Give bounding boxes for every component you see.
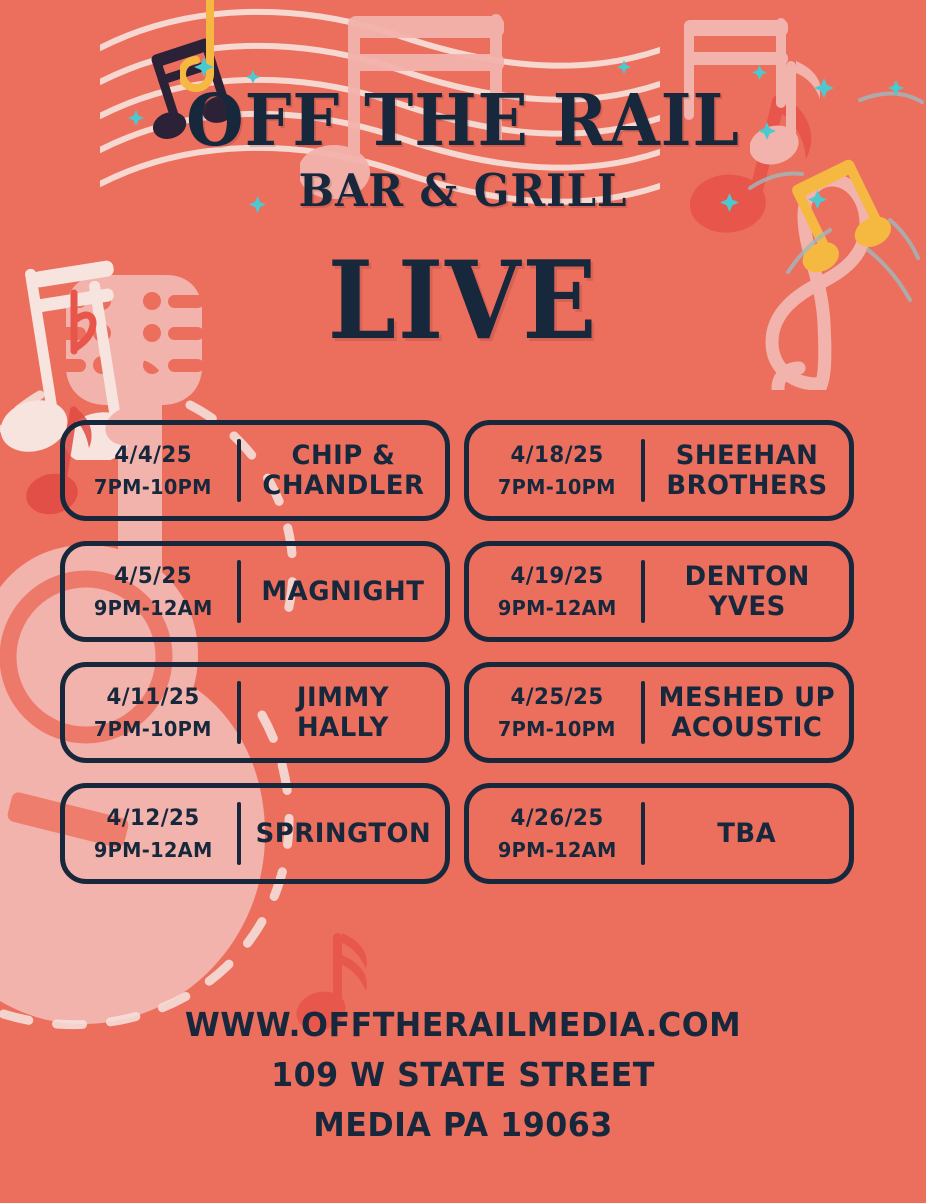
live-headline: LIVE xyxy=(46,247,879,355)
event-when: 4/26/25 9PM-12AM xyxy=(469,788,641,879)
event-card[interactable]: 4/12/25 9PM-12AM SPRINGTON xyxy=(60,783,450,884)
event-artist-label: MAGNIGHT xyxy=(262,577,425,606)
event-artist: MAGNIGHT xyxy=(241,546,445,637)
event-date: 4/4/25 xyxy=(114,443,192,468)
event-when: 4/4/25 7PM-10PM xyxy=(65,425,237,516)
event-artist-label: MESHED UP ACOUSTIC xyxy=(659,683,835,741)
event-date: 4/25/25 xyxy=(510,685,603,710)
event-artist-label: DENTON YVES xyxy=(684,562,809,620)
event-when: 4/12/25 9PM-12AM xyxy=(65,788,237,879)
event-card[interactable]: 4/25/25 7PM-10PM MESHED UP ACOUSTIC xyxy=(464,662,854,763)
footer-contact: WWW.OFFTHERAILMEDIA.COM 109 W STATE STRE… xyxy=(0,1005,926,1144)
event-artist: SPRINGTON xyxy=(241,788,445,879)
event-when: 4/5/25 9PM-12AM xyxy=(65,546,237,637)
event-artist-label: SHEEHAN BROTHERS xyxy=(666,441,827,499)
event-date: 4/12/25 xyxy=(106,806,199,831)
event-card[interactable]: 4/26/25 9PM-12AM TBA xyxy=(464,783,854,884)
event-card[interactable]: 4/11/25 7PM-10PM JIMMY HALLY xyxy=(60,662,450,763)
live-music-poster: OFF THE RAIL BAR & GRILL LIVE 4/4/25 7PM… xyxy=(0,0,926,1203)
event-date: 4/11/25 xyxy=(106,685,199,710)
event-when: 4/19/25 9PM-12AM xyxy=(469,546,641,637)
event-time: 9PM-12AM xyxy=(498,596,617,620)
event-artist-label: JIMMY HALLY xyxy=(297,683,389,741)
event-artist-label: SPRINGTON xyxy=(255,819,431,848)
event-card[interactable]: 4/18/25 7PM-10PM SHEEHAN BROTHERS xyxy=(464,420,854,521)
event-artist: JIMMY HALLY xyxy=(241,667,445,758)
event-artist: MESHED UP ACOUSTIC xyxy=(645,667,849,758)
event-date: 4/19/25 xyxy=(510,564,603,589)
city-state-zip: MEDIA PA 19063 xyxy=(19,1105,908,1144)
event-card[interactable]: 4/19/25 9PM-12AM DENTON YVES xyxy=(464,541,854,642)
event-date: 4/26/25 xyxy=(510,806,603,831)
event-time: 7PM-10PM xyxy=(498,717,616,741)
event-card[interactable]: 4/4/25 7PM-10PM CHIP & CHANDLER xyxy=(60,420,450,521)
event-artist-label: TBA xyxy=(718,819,777,848)
brand-subtitle: BAR & GRILL xyxy=(32,168,893,213)
event-schedule-grid: 4/4/25 7PM-10PM CHIP & CHANDLER 4/18/25 … xyxy=(60,420,854,884)
event-when: 4/11/25 7PM-10PM xyxy=(65,667,237,758)
event-time: 7PM-10PM xyxy=(94,475,212,499)
event-time: 9PM-12AM xyxy=(94,838,213,862)
event-artist: DENTON YVES xyxy=(645,546,849,637)
website-url[interactable]: WWW.OFFTHERAILMEDIA.COM xyxy=(19,1005,908,1044)
event-artist: TBA xyxy=(645,788,849,879)
event-time: 7PM-10PM xyxy=(498,475,616,499)
event-when: 4/18/25 7PM-10PM xyxy=(469,425,641,516)
event-artist: CHIP & CHANDLER xyxy=(241,425,445,516)
event-time: 7PM-10PM xyxy=(94,717,212,741)
page-title: OFF THE RAIL xyxy=(32,86,893,154)
event-time: 9PM-12AM xyxy=(498,838,617,862)
event-artist: SHEEHAN BROTHERS xyxy=(645,425,849,516)
event-time: 9PM-12AM xyxy=(94,596,213,620)
event-date: 4/18/25 xyxy=(510,443,603,468)
event-when: 4/25/25 7PM-10PM xyxy=(469,667,641,758)
event-artist-label: CHIP & CHANDLER xyxy=(262,441,424,499)
brand-header: OFF THE RAIL BAR & GRILL xyxy=(0,0,926,213)
event-card[interactable]: 4/5/25 9PM-12AM MAGNIGHT xyxy=(60,541,450,642)
event-date: 4/5/25 xyxy=(114,564,192,589)
street-address: 109 W STATE STREET xyxy=(19,1055,908,1094)
